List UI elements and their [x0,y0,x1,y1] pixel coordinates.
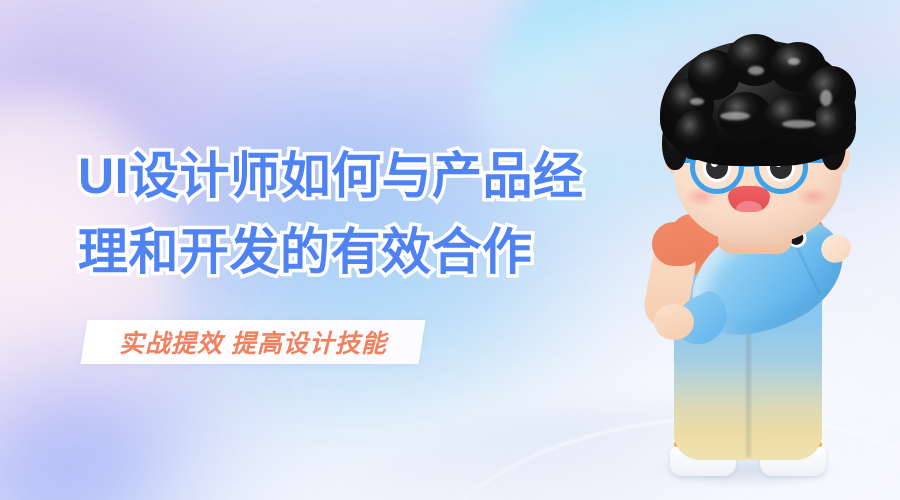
mascot-hair [660,40,856,166]
hair-highlight [720,112,750,120]
mascot-mouth [728,186,770,212]
banner-text-block: UI设计师如何与产品经 理和开发的有效合作 [78,138,638,290]
banner-title-line-1: UI设计师如何与产品经 [78,138,638,214]
mascot-cheek-right [796,186,830,207]
hair-highlight [788,58,800,65]
hair-curl [674,110,718,160]
promo-banner: UI设计师如何与产品经 理和开发的有效合作 实战提效 提高设计技能 [0,0,900,500]
hair-curl [764,94,816,144]
mascot-hand-left [654,304,694,340]
mascot-illustration [612,18,900,500]
mascot-tongue [736,201,762,212]
hair-curl [810,102,856,154]
hair-highlight [782,120,816,128]
banner-title-line-2: 理和开发的有效合作 [78,214,638,290]
hair-highlight [820,90,832,106]
fish-nose [816,229,855,267]
hair-highlight [690,98,704,105]
banner-subtitle-container: 实战提效 提高设计技能 [84,320,422,364]
banner-subtitle: 实战提效 提高设计技能 [84,320,422,364]
mascot-shoulder-left [652,222,704,266]
hair-highlight [748,66,764,75]
